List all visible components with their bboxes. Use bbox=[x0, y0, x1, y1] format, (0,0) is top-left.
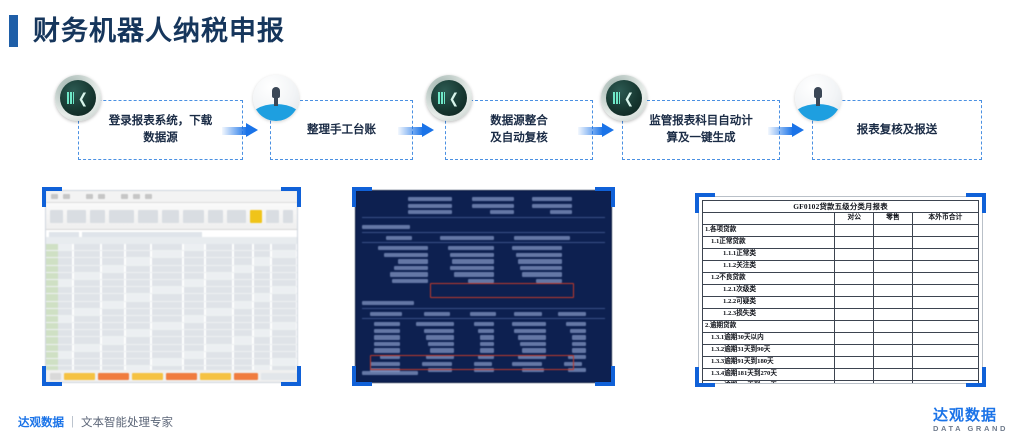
table-cell bbox=[874, 321, 913, 333]
panel-corner-bottom-left bbox=[42, 366, 62, 386]
excel-quick-access-bar bbox=[46, 191, 297, 203]
table-cell bbox=[874, 249, 913, 261]
table-cell bbox=[874, 237, 913, 249]
table-cell bbox=[912, 237, 978, 249]
console-block-1 bbox=[362, 197, 605, 221]
excel-row bbox=[46, 309, 297, 316]
excel-row bbox=[46, 244, 297, 251]
excel-column-headers bbox=[46, 237, 297, 244]
excel-row bbox=[46, 280, 297, 287]
panel-corner-top-right bbox=[595, 187, 615, 207]
excel-grid bbox=[46, 237, 297, 370]
console-block-4 bbox=[362, 371, 605, 378]
excel-row bbox=[46, 251, 297, 258]
table-cell bbox=[912, 345, 978, 357]
table-cell bbox=[912, 297, 978, 309]
table-cell bbox=[912, 261, 978, 273]
excel-row bbox=[46, 258, 297, 265]
table-row-label: 1.2.2可疑类 bbox=[703, 297, 835, 309]
page-title: 财务机器人纳税申报 bbox=[0, 10, 285, 52]
table-row-label: 1.1正常贷款 bbox=[703, 237, 835, 249]
process-flow: ❮ 登录报表系统，下载 数据源 整理手工台账 ❮ 数据源整合 及自动复核 ❮ 监… bbox=[0, 66, 1024, 181]
excel-row bbox=[46, 316, 297, 323]
table-cell bbox=[874, 261, 913, 273]
table-cell bbox=[835, 321, 874, 333]
excel-row bbox=[46, 266, 297, 273]
screenshot-panel-report[interactable]: GF0102贷款五级分类月报表 对公 零售 本外币合计 1.各项贷款1.1正常贷… bbox=[698, 196, 983, 384]
robot-icon: ❮ bbox=[426, 75, 472, 121]
table-row: 1.3.4逾期181天到270天 bbox=[703, 369, 979, 381]
table-cell bbox=[912, 333, 978, 345]
flow-step-5[interactable]: 报表复核及报送 bbox=[812, 100, 982, 160]
flow-step-2[interactable]: 整理手工台账 bbox=[270, 100, 413, 160]
flow-step-4[interactable]: ❮ 监管报表科目自动计 算及一键生成 bbox=[622, 100, 780, 160]
table-cell bbox=[912, 273, 978, 285]
flow-step-1[interactable]: ❮ 登录报表系统，下载 数据源 bbox=[78, 100, 243, 160]
table-cell bbox=[835, 309, 874, 321]
table-row: 1.3.1逾期30天以内 bbox=[703, 333, 979, 345]
flow-step-3[interactable]: ❮ 数据源整合 及自动复核 bbox=[445, 100, 593, 160]
footer-brand: 达观数据 bbox=[18, 414, 64, 430]
panel-corner-top-right bbox=[281, 187, 301, 207]
panel-corner-bottom-left bbox=[352, 366, 372, 386]
panel-corner-bottom-right bbox=[595, 366, 615, 386]
table-cell bbox=[874, 309, 913, 321]
table-header-row: 对公 零售 本外币合计 bbox=[703, 213, 979, 225]
excel-row bbox=[46, 273, 297, 280]
panel-corner-bottom-left bbox=[695, 367, 715, 387]
panel-corner-bottom-right bbox=[281, 366, 301, 386]
flow-step-5-label: 报表复核及报送 bbox=[851, 122, 944, 139]
footer-brand-line: 达观数据 | 文本智能处理专家 bbox=[18, 414, 173, 430]
excel-row bbox=[46, 337, 297, 344]
table-cell bbox=[835, 225, 874, 237]
flow-step-2-label: 整理手工台账 bbox=[301, 122, 382, 139]
table-cell bbox=[874, 345, 913, 357]
table-body: 1.各项贷款1.1正常贷款1.1.1正常类1.1.2关注类1.2不良贷款1.2.… bbox=[703, 225, 979, 385]
table-cell bbox=[874, 333, 913, 345]
table-cell bbox=[835, 345, 874, 357]
console-highlight-box-1 bbox=[430, 283, 574, 298]
table-row: 2.逾期贷款 bbox=[703, 321, 979, 333]
flow-step-1-label: 登录报表系统，下载 数据源 bbox=[103, 113, 219, 147]
table-row: 1.3.5逾期271天到360天 bbox=[703, 381, 979, 385]
logo-english-text: DATA GRAND bbox=[933, 424, 1008, 434]
loan-classification-table: GF0102贷款五级分类月报表 对公 零售 本外币合计 1.各项贷款1.1正常贷… bbox=[702, 200, 979, 384]
flow-arrow-4 bbox=[768, 123, 804, 138]
table-cell bbox=[835, 369, 874, 381]
excel-row bbox=[46, 345, 297, 352]
table-row-label: 1.2.3损失类 bbox=[703, 309, 835, 321]
table-row: 1.3.2逾期31天到90天 bbox=[703, 345, 979, 357]
table-row-label: 2.逾期贷款 bbox=[703, 321, 835, 333]
excel-ribbon bbox=[46, 203, 297, 230]
excel-screenshot bbox=[45, 190, 298, 383]
table-row-label: 1.1.2关注类 bbox=[703, 261, 835, 273]
screenshot-panel-console[interactable] bbox=[355, 190, 612, 383]
table-cell bbox=[912, 225, 978, 237]
flow-arrow-3 bbox=[578, 123, 614, 138]
company-logo: 达观数据 DATA GRAND bbox=[933, 408, 1008, 434]
table-row: 1.2.2可疑类 bbox=[703, 297, 979, 309]
table-row: 1.2不良贷款 bbox=[703, 273, 979, 285]
footer-separator: | bbox=[71, 416, 74, 428]
table-row-label: 1.2.1次级类 bbox=[703, 285, 835, 297]
panel-corner-bottom-right bbox=[966, 367, 986, 387]
table-cell bbox=[874, 273, 913, 285]
table-row: 1.3.3逾期91天到180天 bbox=[703, 357, 979, 369]
person-icon bbox=[795, 75, 841, 121]
table-cell bbox=[874, 381, 913, 385]
table-cell bbox=[874, 225, 913, 237]
table-cell bbox=[874, 369, 913, 381]
table-row-label: 1.3.5逾期271天到360天 bbox=[703, 381, 835, 385]
table-cell bbox=[835, 249, 874, 261]
table-row-label: 1.各项贷款 bbox=[703, 225, 835, 237]
table-cell bbox=[912, 249, 978, 261]
flow-step-3-label: 数据源整合 及自动复核 bbox=[484, 113, 554, 147]
table-title-row: GF0102贷款五级分类月报表 bbox=[703, 201, 979, 213]
footer-tagline: 文本智能处理专家 bbox=[81, 414, 173, 430]
table-row: 1.2.1次级类 bbox=[703, 285, 979, 297]
table-cell bbox=[835, 237, 874, 249]
table-cell bbox=[912, 309, 978, 321]
robot-icon: ❮ bbox=[601, 75, 647, 121]
table-cell bbox=[912, 285, 978, 297]
panel-corner-top-left bbox=[695, 193, 715, 213]
table-row: 1.2.3损失类 bbox=[703, 309, 979, 321]
screenshot-panel-excel[interactable] bbox=[45, 190, 298, 383]
robot-icon: ❮ bbox=[55, 75, 101, 121]
table-row-label: 1.3.4逾期181天到270天 bbox=[703, 369, 835, 381]
column-header-corporate: 对公 bbox=[835, 213, 874, 225]
table-cell bbox=[835, 381, 874, 385]
table-row: 1.1正常贷款 bbox=[703, 237, 979, 249]
table-row-label: 1.2不良贷款 bbox=[703, 273, 835, 285]
table-row-label: 1.3.1逾期30天以内 bbox=[703, 333, 835, 345]
table-cell bbox=[835, 357, 874, 369]
page-title-text: 财务机器人纳税申报 bbox=[33, 15, 285, 47]
table-cell bbox=[874, 297, 913, 309]
console-screenshot bbox=[355, 190, 612, 383]
excel-row bbox=[46, 302, 297, 309]
table-cell bbox=[874, 357, 913, 369]
table-cell bbox=[835, 285, 874, 297]
excel-row bbox=[46, 330, 297, 337]
table-cell bbox=[835, 333, 874, 345]
excel-rows bbox=[46, 244, 297, 370]
column-header-total: 本外币合计 bbox=[912, 213, 978, 225]
table-row: 1.1.2关注类 bbox=[703, 261, 979, 273]
flow-arrow-2 bbox=[398, 123, 434, 138]
excel-row bbox=[46, 359, 297, 366]
excel-row bbox=[46, 352, 297, 359]
table-row: 1.1.1正常类 bbox=[703, 249, 979, 261]
table-row-label: 1.1.1正常类 bbox=[703, 249, 835, 261]
excel-row bbox=[46, 287, 297, 294]
panel-corner-top-left bbox=[42, 187, 62, 207]
excel-sheet-tabs bbox=[46, 370, 297, 382]
table-cell bbox=[874, 285, 913, 297]
table-cell bbox=[835, 261, 874, 273]
column-header-blank bbox=[703, 213, 835, 225]
excel-row bbox=[46, 323, 297, 330]
table-title: GF0102贷款五级分类月报表 bbox=[703, 201, 979, 213]
report-screenshot: GF0102贷款五级分类月报表 对公 零售 本外币合计 1.各项贷款1.1正常贷… bbox=[698, 196, 983, 384]
table-row-label: 1.3.3逾期91天到180天 bbox=[703, 357, 835, 369]
logo-chinese-text: 达观数据 bbox=[933, 408, 1008, 424]
column-header-retail: 零售 bbox=[874, 213, 913, 225]
person-icon bbox=[253, 75, 299, 121]
table-cell bbox=[835, 297, 874, 309]
panel-corner-top-right bbox=[966, 193, 986, 213]
console-highlight-box-2 bbox=[370, 355, 574, 370]
title-accent-bar bbox=[9, 15, 18, 47]
excel-row bbox=[46, 294, 297, 301]
table-row: 1.各项贷款 bbox=[703, 225, 979, 237]
table-cell bbox=[912, 321, 978, 333]
table-cell bbox=[835, 273, 874, 285]
table-row-label: 1.3.2逾期31天到90天 bbox=[703, 345, 835, 357]
flow-arrow-1 bbox=[222, 123, 258, 138]
console-block-2 bbox=[362, 225, 605, 286]
flow-step-4-label: 监管报表科目自动计 算及一键生成 bbox=[643, 113, 759, 147]
panel-corner-top-left bbox=[352, 187, 372, 207]
